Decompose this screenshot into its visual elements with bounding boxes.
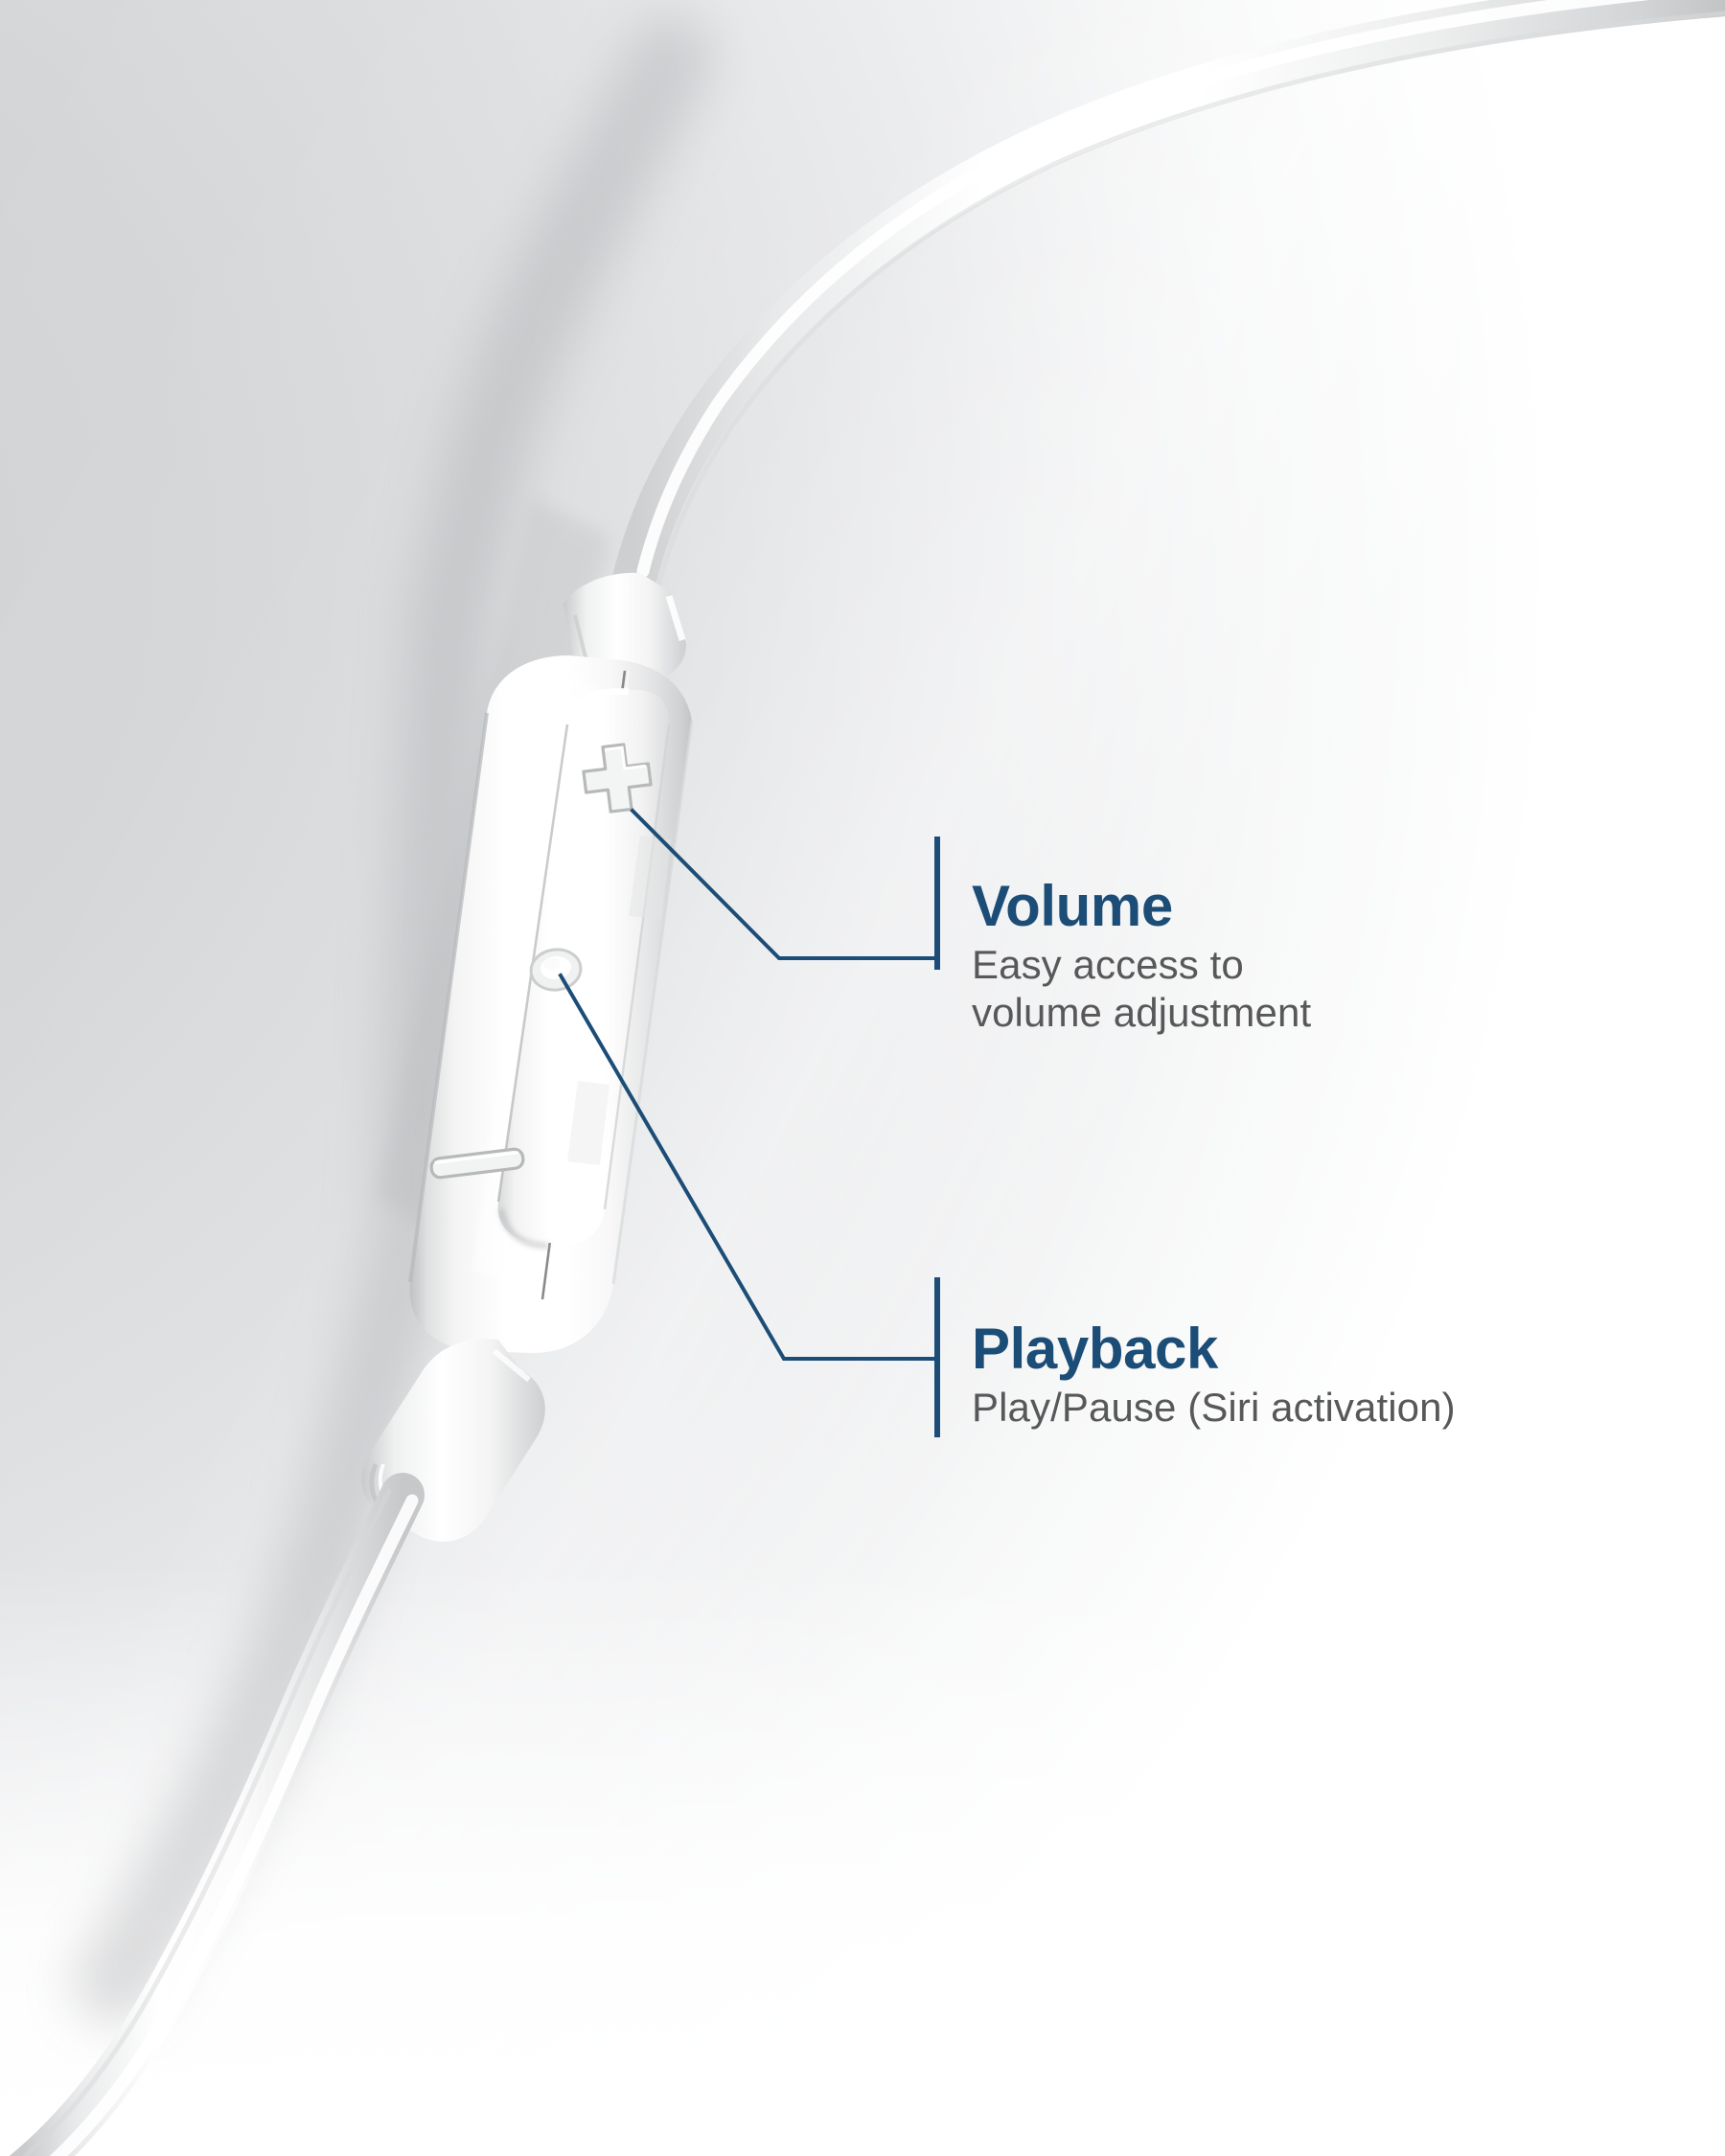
product-illustration	[0, 0, 1725, 2156]
leader-line-volume	[632, 811, 937, 958]
callout-volume: Volume Easy access to volume adjustment	[972, 878, 1311, 1036]
cable-upper	[634, 0, 1725, 590]
callout-playback-subtitle: Play/Pause (Siri activation)	[972, 1384, 1456, 1432]
infographic-canvas: Volume Easy access to volume adjustment …	[0, 0, 1725, 2156]
callout-volume-title: Volume	[972, 878, 1311, 935]
callout-playback-title: Playback	[972, 1320, 1456, 1378]
callout-volume-subtitle: Easy access to volume adjustment	[972, 941, 1311, 1036]
callout-playback: Playback Play/Pause (Siri activation)	[972, 1320, 1456, 1432]
